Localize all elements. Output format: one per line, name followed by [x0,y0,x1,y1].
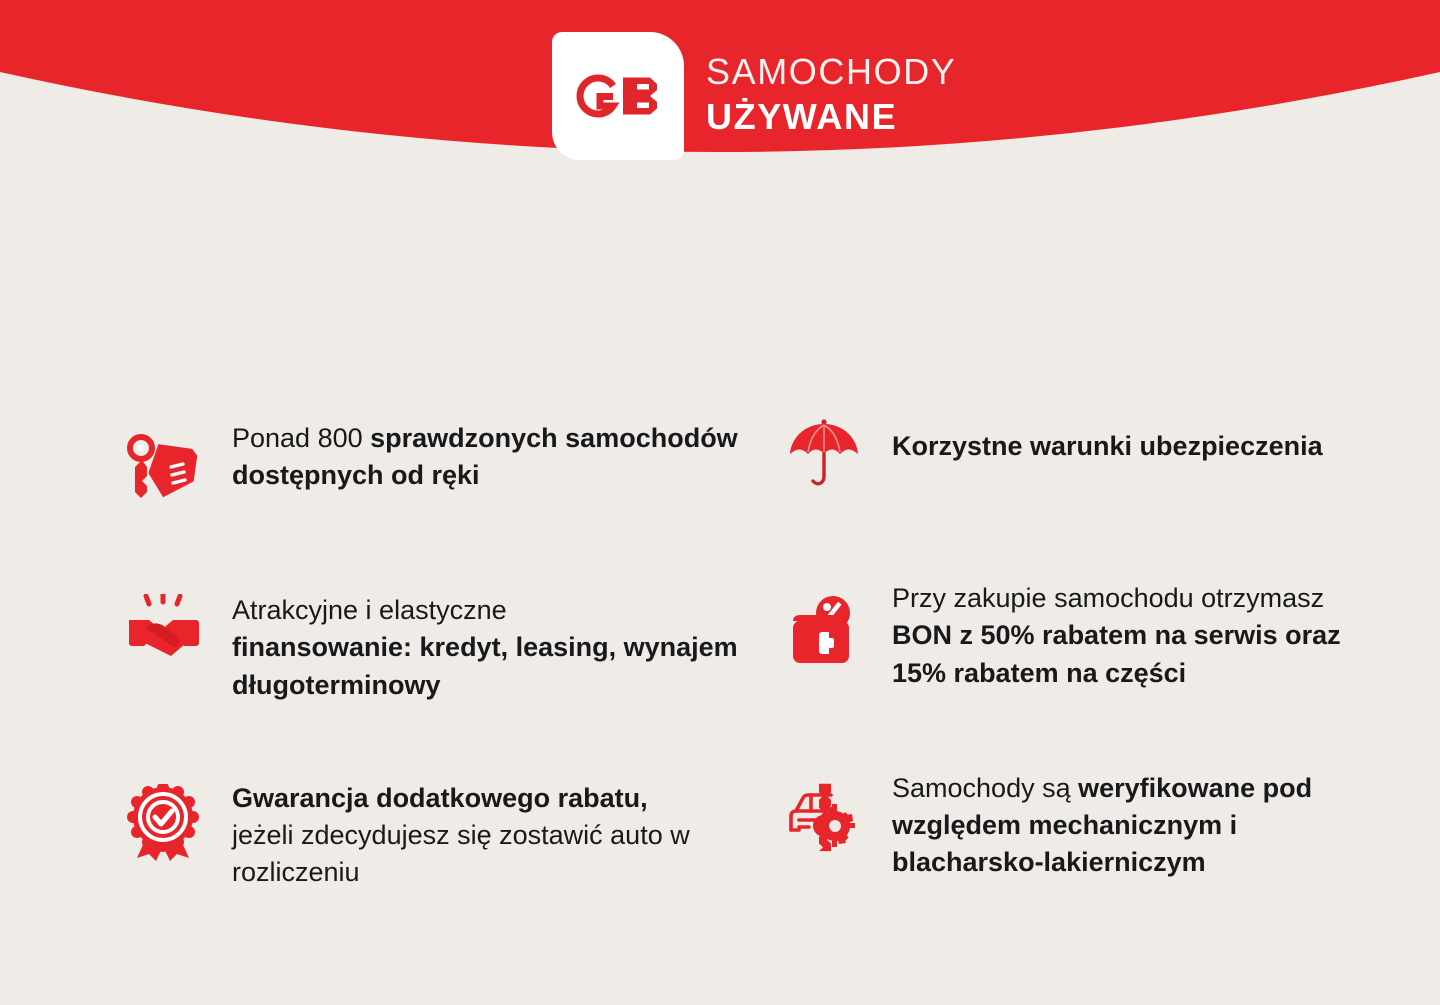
feature-item-verification: Samochody są weryfikowane pod względem m… [782,766,1382,882]
feature-item-cars-available: Ponad 800 sprawdzonych samochodów dostęp… [122,416,782,518]
text-regular: Przy zakupie samochodu otrzymasz [892,583,1324,613]
brand-logo[interactable]: SAMOCHODY UŻYWANE [552,32,956,160]
feature-text: Atrakcyjne i elastyczne finansowanie: kr… [232,588,752,704]
logo-line-uzywane: UŻYWANE [706,99,956,135]
feature-item-service-voucher: Przy zakupie samochodu otrzymasz BON z 5… [782,580,1382,692]
logo-mark-card [552,32,684,160]
header-banner: SAMOCHODY UŻYWANE [0,0,1440,230]
feature-text: Korzystne warunki ubezpieczenia [892,414,1323,465]
text-regular: Ponad 800 [232,423,370,453]
feature-text: Przy zakupie samochodu otrzymasz BON z 5… [892,580,1382,692]
feature-item-financing: Atrakcyjne i elastyczne finansowanie: kr… [122,588,782,704]
text-regular: Atrakcyjne i elastyczne [232,595,507,625]
award-badge-icon [122,776,206,868]
text-bold: Gwarancja dodatkowego rabatu, [232,783,648,813]
features-section: Ponad 800 sprawdzonych samochodów dostęp… [0,400,1440,962]
wallet-percent-icon [782,580,866,680]
umbrella-icon [782,414,866,502]
features-column-left: Ponad 800 sprawdzonych samochodów dostęp… [122,400,782,962]
text-regular: Samochody są [892,773,1078,803]
feature-text: Gwarancja dodatkowego rabatu, jeżeli zde… [232,776,752,892]
text-bold: BON z 50% rabatem na serwis oraz 15% rab… [892,620,1341,687]
gb-monogram-icon [572,72,664,120]
feature-item-insurance: Korzystne warunki ubezpieczenia [782,414,1382,502]
feature-text: Samochody są weryfikowane pod względem m… [892,766,1382,882]
key-tag-icon [122,416,206,518]
text-bold: finansowanie: kredyt, leasing, wynajem d… [232,632,738,699]
feature-item-trade-in-discount: Gwarancja dodatkowego rabatu, jeżeli zde… [122,776,782,892]
features-column-right: Korzystne warunki ubezpieczenia [782,400,1382,962]
handshake-icon [122,588,206,678]
car-wrench-gear-icon [782,766,866,866]
text-regular: jeżeli zdecydujesz się zostawić auto w r… [232,820,690,887]
feature-text: Ponad 800 sprawdzonych samochodów dostęp… [232,416,752,495]
logo-wordmark: SAMOCHODY UŻYWANE [706,54,956,139]
logo-line-samochody: SAMOCHODY [706,54,956,90]
text-bold: Korzystne warunki ubezpieczenia [892,431,1323,461]
